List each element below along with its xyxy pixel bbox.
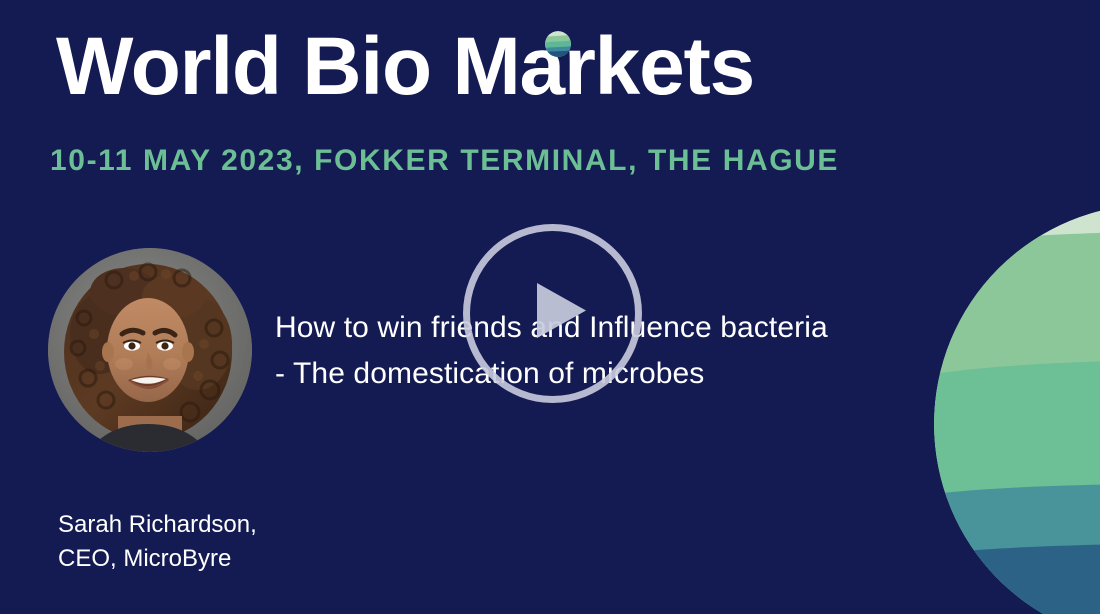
speaker-caption: Sarah Richardson, CEO, MicroByre xyxy=(58,508,257,576)
brand-logo: World Bio Markets xyxy=(56,22,1066,112)
brand-logo-text: World Bio Markets xyxy=(56,22,1066,112)
speaker-role: CEO, MicroByre xyxy=(58,542,257,576)
event-details: 10-11 MAY 2023, FOKKER TERMINAL, THE HAG… xyxy=(50,143,839,179)
speaker-name: Sarah Richardson, xyxy=(58,508,257,542)
play-triangle-icon xyxy=(537,283,586,338)
globe-banded-circle-icon xyxy=(934,204,1100,614)
avatar xyxy=(48,248,252,452)
brand-logo-wordmark: World Bio Markets xyxy=(56,21,754,112)
globe-icon xyxy=(545,31,571,57)
video-slide: World Bio Markets 10-11 MAY 2023, F xyxy=(0,0,1100,614)
play-button[interactable] xyxy=(459,220,646,407)
